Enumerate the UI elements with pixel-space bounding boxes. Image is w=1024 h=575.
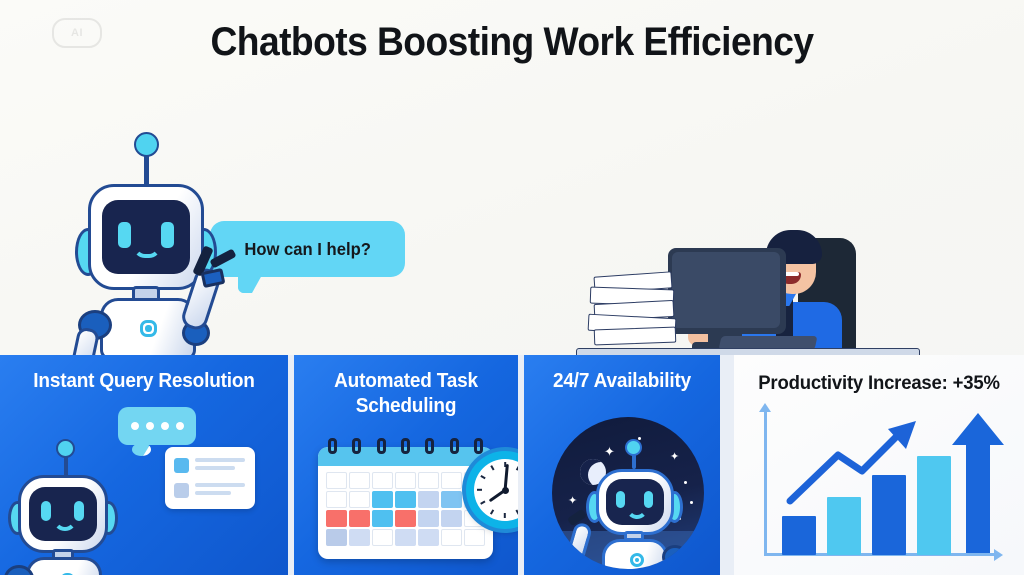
feature-panels: Instant Query Resolution (0, 355, 1024, 575)
clock-tick (516, 465, 518, 470)
calendar-cell (349, 529, 370, 546)
card-text-line (195, 458, 245, 462)
calendar-cell (464, 529, 485, 546)
star-icon: ✦ (568, 495, 577, 508)
query-result-card (165, 447, 255, 509)
upward-trend-arrow (756, 403, 1008, 561)
calendar-cell (326, 529, 347, 546)
clock-tick (477, 489, 482, 491)
productivity-bar-chart (756, 403, 1008, 561)
calendar-cell (418, 472, 439, 489)
card-text-line (195, 491, 231, 495)
calendar-cell (441, 510, 462, 527)
calendar-cell (349, 472, 370, 489)
calendar-cell (441, 491, 462, 508)
chatbot-robot-night (586, 439, 696, 569)
calendar-ring (401, 438, 410, 454)
card-text-line (195, 466, 235, 470)
calendar-cell (395, 529, 416, 546)
chatbot-robot (70, 128, 300, 358)
robot-eye-right-icon (161, 222, 174, 248)
calendar-cell (395, 510, 416, 527)
calendar-grid (326, 472, 485, 546)
calendar-cell (418, 491, 439, 508)
calendar-rings (328, 438, 483, 454)
calendar-cell (395, 491, 416, 508)
calendar-cell (349, 491, 370, 508)
clock-tick (490, 465, 494, 470)
calendar-cell (441, 472, 462, 489)
infographic-canvas: AI Chatbots Boosting Work Efficiency How… (0, 0, 1024, 575)
robot-eye-right-icon (644, 491, 653, 508)
clock-tick (490, 510, 494, 515)
panel-title: 24/7 Availability (529, 369, 715, 394)
calendar-ring (425, 438, 434, 454)
antenna-ball-icon (134, 132, 159, 157)
panel-title: Automated Task Scheduling (300, 369, 513, 419)
calendar-cell (372, 529, 393, 546)
robot-eye-left-icon (118, 222, 131, 248)
paper-sheet (594, 327, 677, 346)
antenna-ball-icon (625, 439, 642, 456)
clock-face (474, 459, 518, 521)
card-row-swatch (174, 483, 189, 498)
panel-productivity-increase[interactable]: Productivity Increase: +35% (734, 355, 1024, 575)
robot-face-screen (29, 487, 97, 541)
calendar-icon (318, 447, 493, 559)
calendar-ring (328, 438, 337, 454)
robot-chest-emblem-icon (630, 553, 644, 567)
panel-divider (720, 355, 734, 575)
calendar-cell (326, 510, 347, 527)
robot-eye-right-icon (74, 501, 84, 521)
card-row-swatch (174, 458, 189, 473)
calendar-cell (372, 510, 393, 527)
calendar-cell (372, 491, 393, 508)
panel-automated-task-scheduling[interactable]: Automated Task Scheduling (294, 355, 518, 575)
typing-dot (146, 422, 154, 430)
antenna-rod-icon (144, 152, 149, 186)
robot-eye-left-icon (616, 491, 625, 508)
hero-illustration: How can I help? (0, 80, 1024, 355)
page-title: Chatbots Boosting Work Efficiency (36, 20, 988, 65)
robot-chest-emblem-icon (140, 320, 157, 337)
calendar-cell (372, 472, 393, 489)
typing-dot (131, 422, 139, 430)
clock-tick (516, 510, 518, 515)
calendar-ring (474, 438, 483, 454)
clock-center-pin (502, 487, 509, 494)
panel-instant-query-resolution[interactable]: Instant Query Resolution (0, 355, 288, 575)
panel-availability[interactable]: 24/7 Availability ✦ ✦ ✦ (524, 355, 720, 575)
chatbot-robot-small (4, 439, 154, 575)
typing-dot (176, 422, 184, 430)
calendar-cell (326, 491, 347, 508)
panel-title: Instant Query Resolution (7, 369, 281, 394)
calendar-ring (377, 438, 386, 454)
robot-eye-left-icon (41, 501, 51, 521)
typing-dot (161, 422, 169, 430)
card-text-line (195, 483, 245, 487)
calendar-cell (441, 529, 462, 546)
antenna-ball-icon (56, 439, 75, 458)
calendar-ring (450, 438, 459, 454)
night-mode-circle: ✦ ✦ ✦ (552, 417, 704, 569)
robot-face-screen (102, 200, 190, 274)
calendar-cell (418, 510, 439, 527)
clock-tick (480, 501, 485, 505)
panel-title: Productivity Increase: +35% (741, 371, 1017, 396)
calendar-cell (418, 529, 439, 546)
robot-cuff (201, 268, 226, 288)
monitor-bezel (672, 252, 780, 328)
clock-tick (504, 513, 506, 518)
robot-arm-left (565, 521, 593, 564)
calendar-cell (326, 472, 347, 489)
calendar-cell (395, 472, 416, 489)
calendar-cell (349, 510, 370, 527)
calendar-ring (352, 438, 361, 454)
clock-tick (480, 475, 485, 479)
